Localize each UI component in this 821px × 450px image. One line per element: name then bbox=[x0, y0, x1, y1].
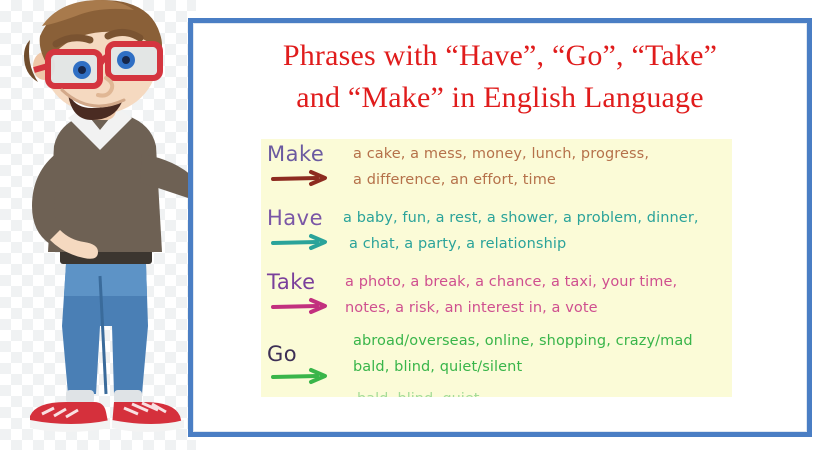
note-row-make: Make a cake, a mess, money, lunch, progr… bbox=[261, 139, 732, 203]
phrases-go-line-2: bald, blind, quiet/silent bbox=[353, 359, 522, 376]
page-title: Phrases with “Have”, “Go”, “Take” and “M… bbox=[193, 35, 807, 119]
keyword-make: Make bbox=[267, 141, 345, 167]
phrases-go-line-1: abroad/overseas, online, shopping, crazy… bbox=[353, 333, 693, 350]
arrow-go-icon bbox=[271, 367, 333, 385]
clipped-text-line: bald, blind, quiet bbox=[357, 391, 479, 397]
phrases-have-line-1: a baby, fun, a rest, a shower, a problem… bbox=[343, 210, 699, 227]
handwritten-note-panel: Make a cake, a mess, money, lunch, progr… bbox=[261, 139, 732, 397]
title-line-2: and “Make” in English Language bbox=[193, 77, 807, 119]
pupil-right bbox=[122, 56, 130, 64]
keyword-go: Go bbox=[267, 341, 345, 367]
phrases-have-line-2: a chat, a party, a relationship bbox=[349, 236, 566, 253]
phrases-take-line-1: a photo, a break, a chance, a taxi, your… bbox=[345, 274, 677, 291]
slide-canvas: Phrases with “Have”, “Go”, “Take” and “M… bbox=[0, 0, 821, 450]
arrow-take-icon bbox=[271, 297, 333, 315]
keyword-have: Have bbox=[267, 205, 345, 231]
arrow-have-icon bbox=[271, 233, 333, 251]
title-line-1: Phrases with “Have”, “Go”, “Take” bbox=[193, 35, 807, 77]
phrases-make-line-2: a difference, an effort, time bbox=[353, 172, 556, 189]
pupil-left bbox=[78, 66, 86, 74]
note-row-go: Go abroad/overseas, online, shopping, cr… bbox=[261, 331, 732, 395]
sock-right bbox=[114, 390, 142, 404]
sock-left bbox=[66, 390, 94, 404]
note-row-take: Take a photo, a break, a chance, a taxi,… bbox=[261, 267, 732, 331]
mascot-illustration bbox=[0, 0, 201, 450]
jeans-highlight bbox=[64, 264, 147, 296]
keyword-take: Take bbox=[267, 269, 345, 295]
content-card: Phrases with “Have”, “Go”, “Take” and “M… bbox=[188, 18, 812, 437]
arrow-make-icon bbox=[271, 169, 333, 187]
phrases-make-line-1: a cake, a mess, money, lunch, progress, bbox=[353, 146, 649, 163]
note-row-have: Have a baby, fun, a rest, a shower, a pr… bbox=[261, 203, 732, 267]
phrases-take-line-2: notes, a risk, an interest in, a vote bbox=[345, 300, 598, 317]
